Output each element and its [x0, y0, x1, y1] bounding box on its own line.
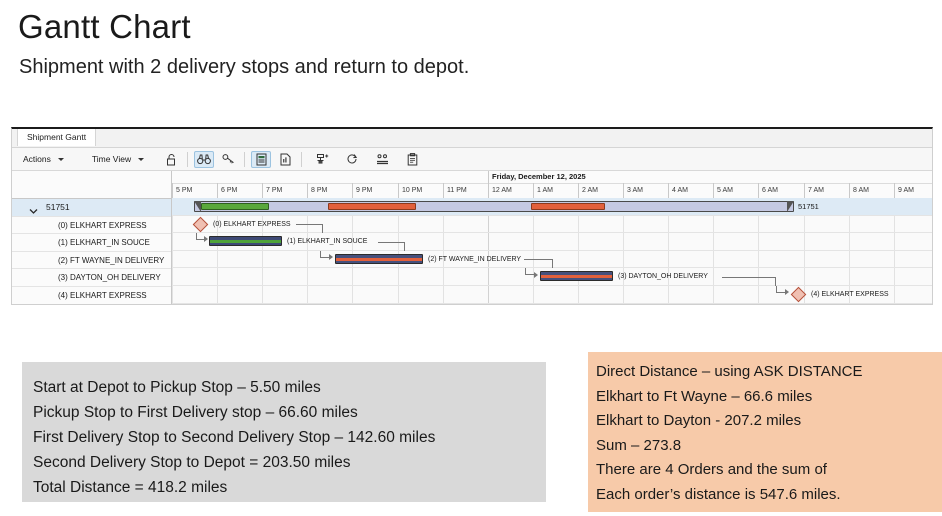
note-line: First Delivery Stop to Second Delivery S…	[33, 425, 546, 450]
grid-row-label: (0) ELKHART EXPRESS	[58, 217, 147, 235]
time-tick: 6 PM	[217, 183, 237, 198]
time-tick: 4 AM	[668, 183, 688, 198]
gantt-toolbar: Actions Time View	[12, 148, 932, 171]
summary-segment-delivery-1	[328, 203, 416, 210]
gantt-chart-pane[interactable]: Friday, December 12, 2025 5 PM 6 PM 7 PM…	[172, 171, 932, 305]
note-line: Each order’s distance is 547.6 miles.	[596, 483, 942, 508]
gantt-grid-pane: 51751 (0) ELKHART EXPRESS (1) ELKHART_IN…	[12, 171, 172, 305]
bar-label: (0) ELKHART EXPRESS	[213, 216, 291, 234]
chart-page-icon[interactable]	[275, 151, 295, 168]
task-bar-ft-wayne-in-delivery[interactable]	[335, 254, 423, 264]
gantt-time-header: Friday, December 12, 2025 5 PM 6 PM 7 PM…	[172, 171, 932, 199]
refresh-circle-icon[interactable]	[342, 151, 362, 168]
time-tick: 9 PM	[352, 183, 372, 198]
time-tick: 5 AM	[713, 183, 733, 198]
time-view-menu-label: Time View	[92, 154, 131, 164]
chart-row-elkhart-express-4[interactable]: (4) ELKHART EXPRESS	[172, 286, 932, 304]
summary-bar-label: 51751	[798, 198, 819, 216]
time-tick: 5 PM	[172, 183, 192, 198]
grid-row-label: (3) DAYTON_OH DELIVERY	[58, 269, 161, 287]
actions-menu-button[interactable]: Actions	[16, 152, 71, 166]
note-line: Elkhart to Ft Wayne – 66.6 miles	[596, 385, 942, 410]
milestone-diamond-icon[interactable]	[791, 287, 807, 303]
note-line: Start at Depot to Pickup Stop – 5.50 mil…	[33, 375, 546, 400]
time-tick: 3 AM	[623, 183, 643, 198]
dependency-arrow-icon	[534, 272, 538, 278]
note-line: Total Distance = 418.2 miles	[33, 475, 546, 500]
binoculars-icon[interactable]	[194, 151, 214, 168]
grid-row-label: 51751	[46, 199, 70, 217]
page-title: Gantt Chart	[18, 8, 191, 46]
task-bar-dayton-oh-delivery[interactable]	[540, 271, 613, 281]
bar-label: (4) ELKHART EXPRESS	[811, 286, 889, 304]
chart-row-dayton-oh-delivery[interactable]: (3) DAYTON_OH DELIVERY	[172, 268, 932, 286]
grid-row-label: (2) FT WAYNE_IN DELIVERY	[58, 252, 164, 270]
task-bar-elkhart-in-source[interactable]	[209, 236, 282, 246]
dependency-arrow-icon	[329, 254, 333, 260]
calendar-grid-icon[interactable]	[251, 151, 271, 168]
note-line: Second Delivery Stop to Depot = 203.50 m…	[33, 450, 546, 475]
bar-label: (3) DAYTON_OH DELIVERY	[618, 268, 708, 286]
grid-row-ft-wayne-in-delivery[interactable]: (2) FT WAYNE_IN DELIVERY	[12, 252, 171, 270]
toolbar-separator	[301, 152, 302, 167]
grid-row-dayton-oh-delivery[interactable]: (3) DAYTON_OH DELIVERY	[12, 269, 171, 287]
toolbar-separator	[244, 152, 245, 167]
dependency-link	[775, 277, 776, 286]
grid-row-label: (1) ELKHART_IN SOUCE	[58, 234, 150, 252]
filter-flask-icon[interactable]	[312, 151, 332, 168]
grid-row-summary[interactable]: 51751	[12, 199, 171, 217]
note-line: Elkhart to Dayton - 207.2 miles	[596, 409, 942, 434]
grid-row-label: (4) ELKHART EXPRESS	[58, 287, 147, 305]
time-tick: 12 AM	[488, 183, 512, 198]
time-tick: 8 AM	[849, 183, 869, 198]
task-bar-stripe	[336, 258, 422, 261]
clipboard-icon[interactable]	[402, 151, 422, 168]
dependency-link	[404, 242, 405, 251]
lock-open-icon[interactable]	[161, 151, 181, 168]
dependency-arrow-icon	[204, 236, 208, 242]
key-icon[interactable]	[218, 151, 238, 168]
sort-bars-icon[interactable]	[372, 151, 392, 168]
dependency-link	[296, 224, 322, 225]
dependency-link	[552, 259, 553, 268]
chart-row-summary[interactable]: 51751	[172, 198, 932, 216]
note-line: Sum – 273.8	[596, 434, 942, 459]
app-tabstrip: Shipment Gantt	[12, 129, 932, 148]
note-box-direct-distance: Direct Distance – using ASK DISTANCE Elk…	[588, 352, 942, 512]
grid-row-elkhart-in-source[interactable]: (1) ELKHART_IN SOUCE	[12, 234, 171, 252]
chart-row-elkhart-in-source[interactable]: (1) ELKHART_IN SOUCE	[172, 233, 932, 251]
bar-label: (1) ELKHART_IN SOUCE	[287, 233, 367, 251]
time-tick: 11 PM	[443, 183, 467, 198]
gantt-body: 51751 (0) ELKHART EXPRESS (1) ELKHART_IN…	[12, 171, 932, 305]
toolbar-separator	[187, 152, 188, 167]
dependency-arrow-icon	[785, 289, 789, 295]
gantt-application-window: Shipment Gantt Actions Time View	[11, 127, 933, 305]
actions-menu-label: Actions	[23, 154, 51, 164]
note-line: There are 4 Orders and the sum of	[596, 458, 942, 483]
task-bar-stripe	[541, 275, 612, 278]
summary-bar-51751[interactable]	[194, 201, 794, 212]
milestone-diamond-icon[interactable]	[193, 216, 209, 232]
note-line: Pickup Stop to First Delivery stop – 66.…	[33, 400, 546, 425]
note-box-distances: Start at Depot to Pickup Stop – 5.50 mil…	[22, 362, 546, 502]
tab-shipment-gantt[interactable]: Shipment Gantt	[17, 129, 96, 146]
bar-label: (2) FT WAYNE_IN DELIVERY	[428, 251, 521, 269]
time-tick: 6 AM	[758, 183, 778, 198]
time-view-menu-button[interactable]: Time View	[85, 152, 151, 166]
time-tick: 9 AM	[894, 183, 914, 198]
grid-row-elkhart-express-0[interactable]: (0) ELKHART EXPRESS	[12, 217, 171, 235]
time-tick: 2 AM	[578, 183, 598, 198]
chart-row-ft-wayne-in-delivery[interactable]: (2) FT WAYNE_IN DELIVERY	[172, 251, 932, 269]
note-line: Direct Distance – using ASK DISTANCE	[596, 360, 942, 385]
chevron-down-icon	[138, 158, 144, 161]
time-tick: 1 AM	[533, 183, 553, 198]
time-tick: 7 AM	[804, 183, 824, 198]
chevron-down-icon	[58, 158, 64, 161]
summary-segment-pickup	[201, 203, 269, 210]
grid-row-elkhart-express-4[interactable]: (4) ELKHART EXPRESS	[12, 287, 171, 305]
time-tick: 10 PM	[398, 183, 422, 198]
date-band-label: Friday, December 12, 2025	[488, 171, 586, 183]
time-tick: 8 PM	[307, 183, 327, 198]
chevron-down-icon[interactable]	[29, 204, 38, 211]
task-bar-stripe	[210, 240, 281, 243]
dependency-link	[524, 259, 552, 260]
time-tick: 7 PM	[262, 183, 282, 198]
dependency-link	[722, 277, 775, 278]
chart-row-elkhart-express-0[interactable]: (0) ELKHART EXPRESS	[172, 216, 932, 234]
page-subtitle: Shipment with 2 delivery stops and retur…	[19, 56, 469, 79]
dependency-link	[322, 224, 323, 233]
grid-header	[12, 171, 171, 199]
dependency-link	[378, 242, 404, 243]
summary-segment-delivery-2	[531, 203, 605, 210]
